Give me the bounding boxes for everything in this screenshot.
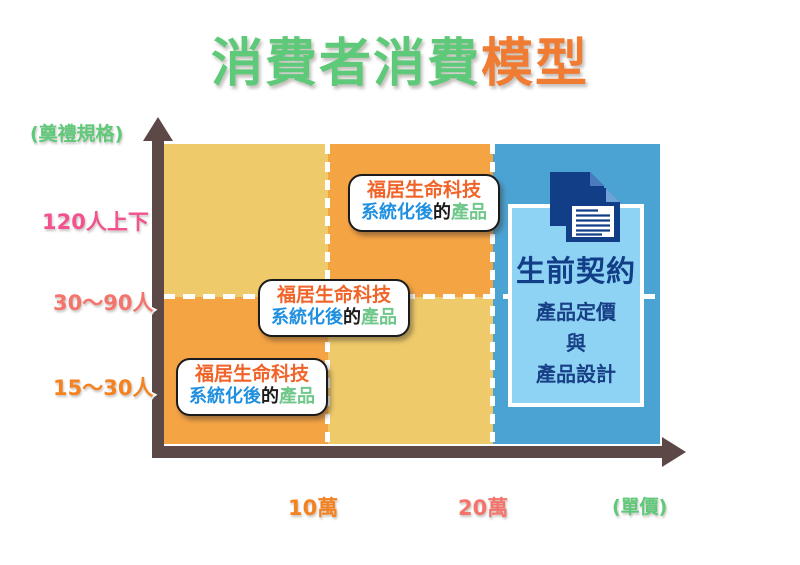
callout-desc: 系統化後的產品: [271, 309, 397, 328]
callout-desc-blue: 系統化後: [361, 202, 433, 223]
callout-top[interactable]: 福居生命科技 系統化後的產品: [348, 174, 500, 232]
title-part-green: 消費者消費: [211, 34, 481, 94]
callout-middle[interactable]: 福居生命科技 系統化後的產品: [258, 279, 410, 337]
preneed-contract-title: 生前契約: [508, 248, 644, 290]
x-axis-arrow-icon: [662, 437, 686, 467]
preneed-contract-sub3: 產品設計: [508, 358, 644, 387]
callout-desc-blue: 系統化後: [189, 386, 261, 407]
callout-desc-dark: 的: [343, 307, 361, 328]
documents-icon: [546, 168, 624, 248]
preneed-contract-sub1: 產品定價: [508, 296, 644, 325]
y-tick-label-120: 120人上下: [42, 206, 149, 236]
title-part-orange: 模型: [481, 34, 589, 94]
callout-brand: 福居生命科技: [361, 181, 487, 201]
page-title: 消費者消費模型: [0, 38, 800, 90]
y-tick-label-15-30: 15～30人: [53, 372, 153, 402]
callout-desc-dark: 的: [433, 202, 451, 223]
callout-brand: 福居生命科技: [271, 286, 397, 306]
x-tick-label-20man: 20萬: [458, 492, 508, 522]
callout-desc-green: 產品: [279, 386, 315, 407]
callout-desc-green: 產品: [451, 202, 487, 223]
callout-lower[interactable]: 福居生命科技 系統化後的產品: [176, 358, 328, 416]
y-tick-label-30-90: 30～90人: [53, 287, 153, 317]
x-tick-label-10man: 10萬: [288, 492, 338, 522]
x-axis-label: (單價): [612, 492, 667, 519]
y-axis-label: (奠禮規格): [30, 119, 123, 146]
preneed-contract-sub2: 與: [508, 327, 644, 356]
quadrant-top-left: [163, 144, 328, 297]
diagram-canvas: 消費者消費模型 (奠禮規格) 120人上下 30～90人 15～30人 10萬 …: [0, 0, 800, 565]
x-axis-line: [152, 446, 664, 458]
callout-desc: 系統化後的產品: [189, 388, 315, 407]
callout-desc-green: 產品: [361, 307, 397, 328]
callout-brand: 福居生命科技: [189, 365, 315, 385]
callout-desc: 系統化後的產品: [361, 204, 487, 223]
callout-desc-dark: 的: [261, 386, 279, 407]
y-axis-line: [152, 138, 164, 458]
callout-desc-blue: 系統化後: [271, 307, 343, 328]
y-axis-arrow-icon: [143, 117, 173, 141]
